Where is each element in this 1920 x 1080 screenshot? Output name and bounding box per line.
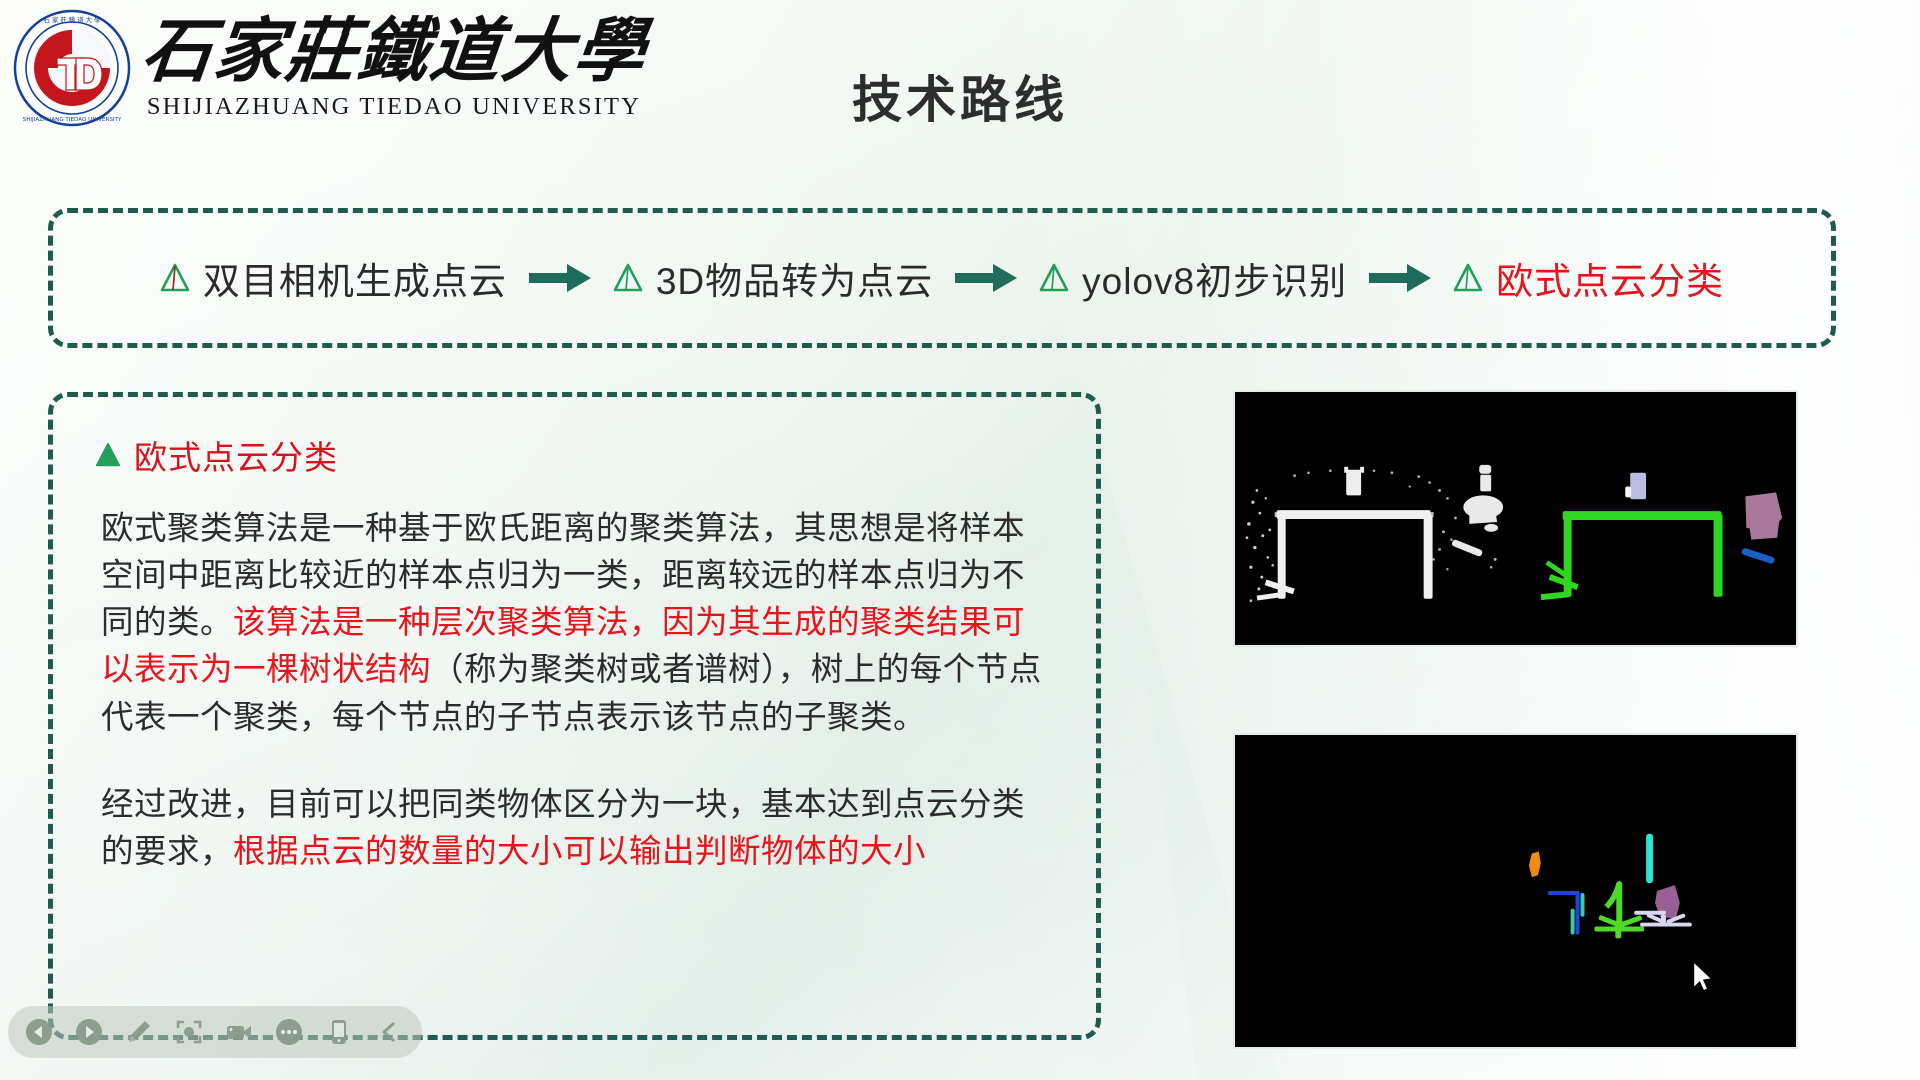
triangle-bullet-icon	[613, 263, 643, 293]
flow-step-3[interactable]: yolov8初步识别	[1029, 251, 1357, 305]
ellipsis-icon	[274, 1017, 304, 1047]
slide-root: 石 家 莊 鐵 道 大 學 SHIJIAZHUANG TIEDAO UNIVER…	[0, 0, 1920, 1080]
description-paragraph-1: 欧式聚类算法是一种基于欧氏距离的聚类算法，其思想是将样本空间中距离比较近的样本点…	[95, 505, 1054, 741]
para2-highlight: 根据点云的数量的大小可以输出判断物体的大小	[233, 833, 926, 869]
triangle-bullet-icon	[160, 263, 190, 293]
phone-icon	[324, 1017, 354, 1047]
next-slide-button[interactable]	[72, 1015, 106, 1049]
previous-slide-button[interactable]	[22, 1015, 56, 1049]
collapse-toolbar-button[interactable]	[372, 1015, 406, 1049]
cluster-cyan	[1646, 834, 1653, 883]
right-arrow-icon	[527, 261, 593, 295]
clustered-chair-purple	[1745, 492, 1782, 539]
spotlight-button[interactable]	[172, 1015, 206, 1049]
record-button[interactable]	[222, 1015, 256, 1049]
slide-header: 石 家 莊 鐵 道 大 學 SHIJIAZHUANG TIEDAO UNIVER…	[0, 0, 1920, 165]
video-camera-icon	[224, 1017, 254, 1047]
spotlight-icon	[174, 1017, 204, 1047]
flow-step-1-label: 双目相机生成点云	[203, 251, 507, 305]
description-paragraph-2: 经过改进，目前可以把同类物体区分为一块，基本达到点云分类的要求，根据点云的数量的…	[95, 781, 1054, 875]
flow-step-2-label: 3D物品转为点云	[656, 251, 933, 305]
presentation-toolbar[interactable]	[8, 1006, 422, 1058]
point-cloud-canvas-bottom	[1235, 735, 1796, 1047]
triangle-bullet-icon	[95, 442, 121, 468]
raw-cup-white	[1344, 467, 1364, 496]
point-cloud-canvas-top	[1235, 392, 1796, 645]
flow-step-4[interactable]: 欧式点云分类	[1443, 251, 1734, 305]
technical-flow-box: 双目相机生成点云 3D物品转为点云 yolov8初步	[48, 208, 1836, 348]
flow-step-3-label: yolov8初步识别	[1082, 251, 1347, 305]
triangle-bullet-icon	[1453, 263, 1483, 293]
content-heading-label: 欧式点云分类	[134, 431, 338, 479]
pen-button[interactable]	[122, 1015, 156, 1049]
pen-icon	[124, 1017, 154, 1047]
flow-step-4-label: 欧式点云分类	[1496, 251, 1724, 305]
triangle-bullet-icon	[1039, 263, 1069, 293]
point-cloud-figure-bottom[interactable]	[1233, 733, 1798, 1049]
content-description-box: 欧式点云分类 欧式聚类算法是一种基于欧氏距离的聚类算法，其思想是将样本空间中距离…	[48, 392, 1101, 1040]
clustered-cup-lavender	[1630, 473, 1646, 500]
svg-text:石 家 莊 鐵 道 大 學: 石 家 莊 鐵 道 大 學	[44, 15, 102, 24]
page-title: 技术路线	[0, 60, 1920, 132]
point-cloud-figure-top[interactable]	[1233, 390, 1798, 647]
flow-step-row: 双目相机生成点云 3D物品转为点云 yolov8初步	[150, 251, 1734, 305]
chevron-left-icon	[374, 1017, 404, 1047]
right-arrow-icon	[1367, 261, 1433, 295]
flow-step-2[interactable]: 3D物品转为点云	[603, 251, 943, 305]
mobile-remote-button[interactable]	[322, 1015, 356, 1049]
right-arrow-icon	[953, 261, 1019, 295]
clustered-cup-white-handle	[1625, 487, 1631, 498]
play-right-icon	[74, 1017, 104, 1047]
content-heading: 欧式点云分类	[95, 431, 1054, 479]
more-options-button[interactable]	[272, 1015, 306, 1049]
play-left-icon	[24, 1017, 54, 1047]
flow-step-1[interactable]: 双目相机生成点云	[150, 251, 517, 305]
